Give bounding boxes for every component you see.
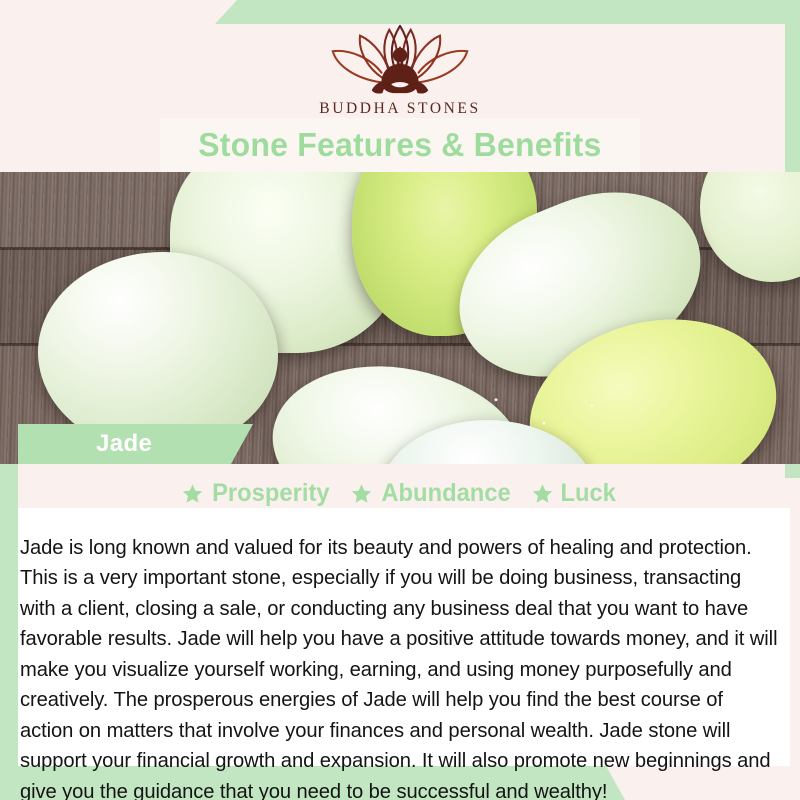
stone-info-card: BUDDHA STONES Stone Features & Benefits …: [0, 0, 800, 800]
lotus-meditation-logo-icon: [325, 22, 475, 98]
star-icon: [351, 483, 372, 504]
title-banner: Stone Features & Benefits: [160, 118, 640, 172]
page-title: Stone Features & Benefits: [198, 126, 601, 164]
brand-name: BUDDHA STONES: [319, 100, 480, 118]
benefit-item-luck: Luck: [532, 479, 617, 508]
brand-header: BUDDHA STONES: [0, 0, 800, 118]
star-icon: [182, 483, 203, 504]
star-icon: [532, 483, 553, 504]
jade-stone: [38, 252, 278, 452]
stone-name-label: Jade: [96, 430, 152, 458]
benefit-label: Abundance: [381, 479, 510, 508]
description-panel: Jade is long known and valued for its be…: [18, 508, 790, 766]
benefit-item-abundance: Abundance: [351, 479, 514, 508]
benefit-item-prosperity: Prosperity: [182, 479, 333, 508]
benefit-label: Prosperity: [213, 479, 330, 508]
stone-name-bar: Jade: [18, 424, 253, 464]
benefit-label: Luck: [561, 479, 616, 508]
jade-stones-photo: [0, 172, 800, 464]
benefits-row: Prosperity Abundance Luck: [0, 478, 800, 508]
description-text: Jade is long known and valued for its be…: [20, 533, 780, 800]
